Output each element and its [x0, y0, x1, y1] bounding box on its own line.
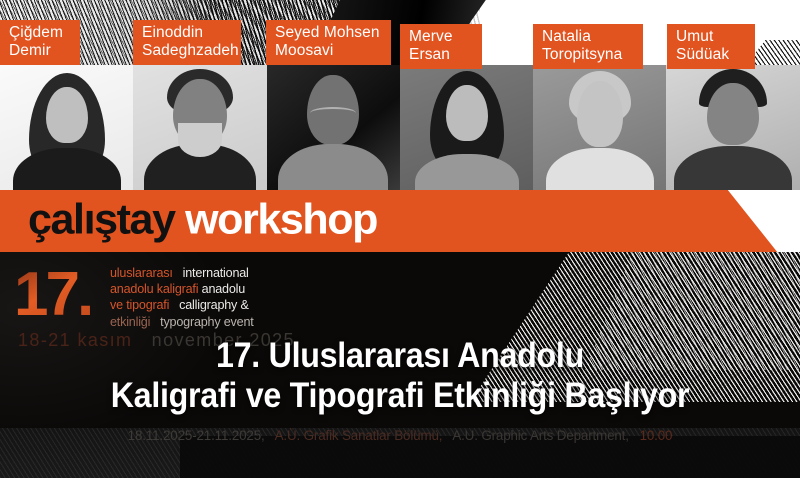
event-line-en: anadolu	[202, 282, 245, 296]
event-bilingual-block: uluslararası international anadolu kalig…	[110, 265, 254, 330]
event-line-en: typography event	[160, 315, 253, 329]
event-line-tr: ve tipografi	[110, 298, 169, 312]
event-detail-line: 18.11.2025-21.11.2025, A.Ü. Grafik Sanat…	[0, 428, 800, 444]
speaker-name-tag: Seyed Mohsen Moosavi	[266, 20, 391, 65]
speaker-portrait	[0, 65, 133, 190]
edition-number: 17.	[14, 264, 91, 326]
speaker-name-tag: Natalia Toropitsyna	[533, 24, 643, 69]
workshop-title-turkish: çalıştay	[28, 196, 175, 244]
page-title-line-1: 17. Uluslararası Anadolu	[32, 336, 768, 376]
detail-venue-tr: A.Ü. Grafik Sanatlar Bölümü,	[275, 428, 443, 443]
page-title: 17. Uluslararası Anadolu Kaligrafi ve Ti…	[0, 336, 800, 416]
event-line-en: international	[183, 266, 249, 280]
event-poster: Çiğdem Demir Einoddin Sadeghzadeh Seyed …	[0, 0, 800, 478]
page-title-line-2: Kaligrafi ve Tipografi Etkinliği Başlıyo…	[32, 376, 768, 416]
workshop-title-english: workshop	[185, 196, 377, 244]
speaker-name-tag: Çiğdem Demir	[0, 20, 80, 65]
workshop-banner: çalıştay workshop	[0, 190, 800, 252]
speaker-portrait	[133, 65, 266, 190]
event-line-tr: anadolu kaligrafi	[110, 282, 198, 296]
event-line-tr: uluslararası	[110, 266, 173, 280]
event-line-en: calligraphy &	[179, 298, 249, 312]
speaker-name-tag: Merve Ersan	[400, 24, 482, 69]
event-line-tr: etkinliği	[110, 315, 150, 329]
speaker-portrait	[267, 65, 400, 190]
detail-venue-en: A.U. Graphic Arts Department,	[452, 428, 629, 443]
speaker-portrait	[666, 65, 799, 190]
speaker-name-tag: Umut Südüak	[667, 24, 755, 69]
detail-dates: 18.11.2025-21.11.2025,	[128, 428, 265, 443]
banner-notch-shape	[610, 190, 800, 252]
detail-time: 10.00	[640, 428, 673, 443]
speaker-portrait-row	[0, 65, 800, 190]
speaker-portrait	[533, 65, 666, 190]
speaker-name-tag: Einoddin Sadeghzadeh	[133, 20, 241, 65]
speaker-portrait	[400, 65, 533, 190]
